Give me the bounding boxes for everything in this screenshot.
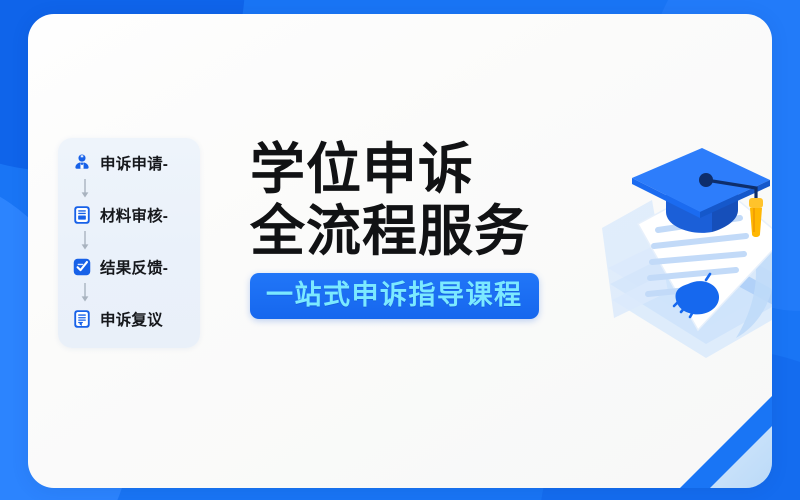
arrow-down-icon-1 [58,178,200,200]
title-line-2: 全流程服务 [250,200,600,262]
document-review-icon [71,204,93,226]
arrow-down-icon-2 [58,230,200,252]
step-item-3[interactable]: 结果反馈- [58,252,200,282]
subtitle-badge[interactable]: 一站式申诉指导课程 [250,273,539,319]
arrow-down-icon-3 [58,282,200,304]
step-label: 申诉申请- [100,152,168,174]
check-box-feedback-icon [71,256,93,278]
graduation-cap-certificate-illustration [594,132,772,360]
appeal-steps-panel: 申诉申请- 材料审核- [58,138,200,348]
step-item-2[interactable]: 材料审核- [58,200,200,230]
step-item-4[interactable]: 申诉复议 [58,304,200,334]
card-corner-fold [680,396,772,488]
step-item-1[interactable]: 申诉申请- [58,148,200,178]
document-lines-reconsider-icon [71,308,93,330]
step-label: 申诉复议 [100,308,163,330]
poster-canvas: 申诉申请- 材料审核- [0,0,800,500]
card-corner-fold-inner [710,426,772,488]
step-label: 结果反馈- [100,256,168,278]
content-card: 申诉申请- 材料审核- [28,14,772,488]
user-applicant-icon [71,152,93,174]
title-line-1: 学位申诉 [250,138,600,200]
title-block: 学位申诉 全流程服务 一站式申诉指导课程 [250,138,600,319]
subtitle-text: 一站式申诉指导课程 [266,280,523,310]
step-label: 材料审核- [100,204,168,226]
